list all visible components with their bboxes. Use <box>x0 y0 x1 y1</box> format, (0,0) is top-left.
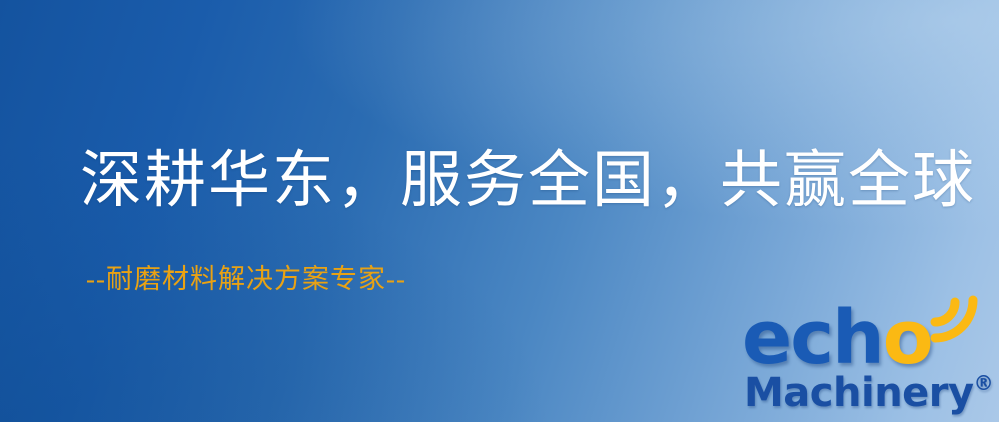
logo-wordmark-row: echo <box>742 300 932 376</box>
banner-headline: 深耕华东，服务全国，共赢全球 <box>80 150 976 212</box>
logo-text-ech: ech <box>742 295 883 381</box>
logo-text-o: o <box>883 295 932 381</box>
echo-machinery-logo[interactable]: echo Machinery® <box>742 300 999 422</box>
registered-trademark-icon: ® <box>974 371 994 395</box>
logo-text-machinery: Machinery <box>744 370 974 416</box>
banner-subtitle: --耐磨材料解决方案专家-- <box>86 266 406 293</box>
logo-subtext-row: Machinery® <box>744 370 994 416</box>
promo-banner: 深耕华东，服务全国，共赢全球 --耐磨材料解决方案专家-- echo Machi… <box>0 0 999 422</box>
logo-o-group: o <box>883 300 932 376</box>
